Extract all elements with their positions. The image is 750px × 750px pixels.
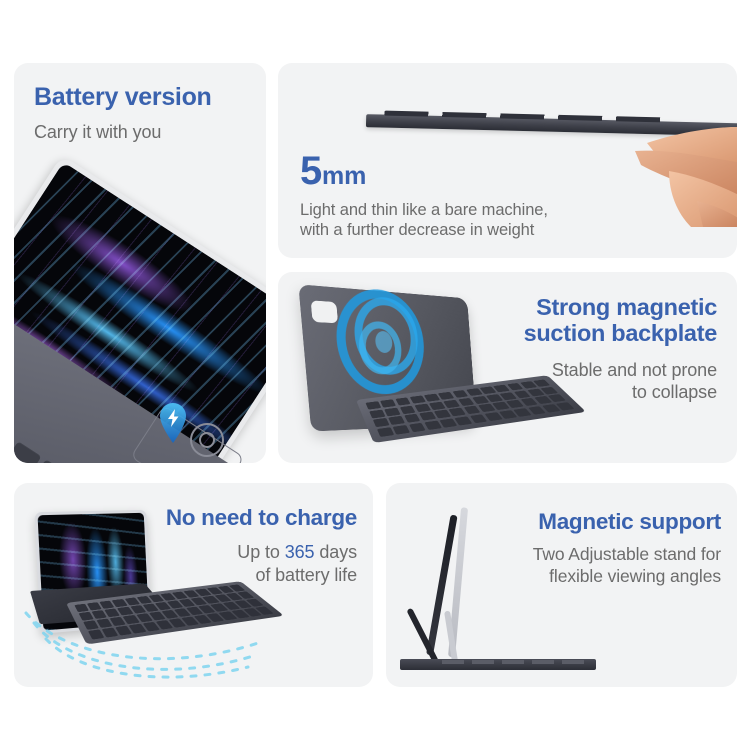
magnetic-desc-line1: Stable and not prone <box>524 359 717 381</box>
charge-desc-prefix: Up to <box>237 542 284 562</box>
support-desc-line2: flexible viewing angles <box>533 566 721 588</box>
battery-text-block: Battery version Carry it with you <box>34 83 212 143</box>
magnetic-desc-line2: to collapse <box>524 381 717 403</box>
magnetic-title-line1: Strong magnetic <box>524 294 717 320</box>
support-title: Magnetic support <box>533 509 721 534</box>
charge-days-value: 365 <box>285 542 315 562</box>
thinness-desc-line1: Light and thin like a bare machine, <box>300 200 548 220</box>
charge-desc-line1: Up to 365 days <box>166 541 357 563</box>
card-thinness: 5mm Light and thin like a bare machine, … <box>278 63 737 258</box>
charge-pin-icon <box>157 402 189 444</box>
thinness-text-block: 5mm Light and thin like a bare machine, … <box>300 151 548 241</box>
magnetic-rings-icon <box>326 282 432 399</box>
product-infographic: Battery version Carry it with you <box>0 0 750 750</box>
card-battery-version: Battery version Carry it with you <box>14 63 266 463</box>
thinness-unit: mm <box>322 162 366 190</box>
keyboard-image <box>400 659 596 670</box>
hand-pinch-icon <box>611 105 737 227</box>
charge-text-block: No need to charge Up to 365 days of batt… <box>166 505 357 586</box>
thinness-desc-line2: with a further decrease in weight <box>300 220 548 240</box>
charge-desc-suffix: days <box>314 542 357 562</box>
magnetic-text-block: Strong magnetic suction backplate Stable… <box>524 294 717 403</box>
charge-title: No need to charge <box>166 505 357 530</box>
card-battery-subtitle: Carry it with you <box>34 121 212 143</box>
support-desc-line1: Two Adjustable stand for <box>533 544 721 566</box>
card-magnetic-support: Magnetic support Two Adjustable stand fo… <box>386 483 737 687</box>
card-no-need-to-charge: No need to charge Up to 365 days of batt… <box>14 483 373 687</box>
magnetic-title-line2: suction backplate <box>524 320 717 346</box>
motion-arcs-icon <box>20 611 270 687</box>
thinness-value: 5 <box>300 149 322 193</box>
support-text-block: Magnetic support Two Adjustable stand fo… <box>533 509 721 588</box>
card-magnetic-suction: Strong magnetic suction backplate Stable… <box>278 272 737 463</box>
charge-desc-line2: of battery life <box>166 564 357 586</box>
card-battery-title: Battery version <box>34 83 212 111</box>
